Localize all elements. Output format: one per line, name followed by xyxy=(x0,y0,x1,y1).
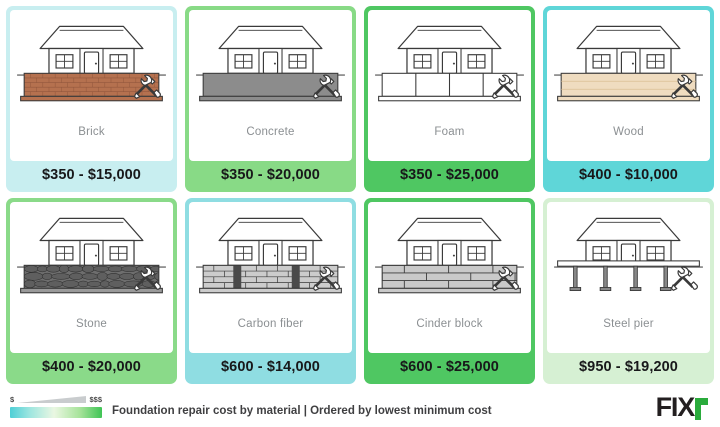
card-body: Carbon fiber xyxy=(189,202,352,353)
house-foundation-illustration xyxy=(10,12,173,124)
card-body: Brick xyxy=(10,10,173,161)
card-body: Steel pier xyxy=(547,202,710,353)
caption: Foundation repair cost by material | Ord… xyxy=(112,405,656,417)
material-card[interactable]: Concrete $350 - $20,000 xyxy=(185,6,356,192)
price-range: $350 - $25,000 xyxy=(368,161,531,188)
material-card[interactable]: Foam $350 - $25,000 xyxy=(364,6,535,192)
fixr-logo[interactable]: FIX xyxy=(656,395,708,421)
house-foundation-illustration xyxy=(547,12,710,124)
card-body: Foam xyxy=(368,10,531,161)
legend-wedge-icon xyxy=(17,396,86,403)
legend-scale: $ $$$ xyxy=(10,394,102,405)
material-card[interactable]: Stone $400 - $20,000 xyxy=(6,198,177,384)
card-body: Cinder block xyxy=(368,202,531,353)
house-foundation-illustration xyxy=(547,204,710,316)
footer: $ $$$ Foundation repair cost by material… xyxy=(0,381,720,427)
house-foundation-illustration xyxy=(10,204,173,316)
legend-gradient-bar xyxy=(10,407,102,418)
material-card[interactable]: Steel pier $950 - $19,200 xyxy=(543,198,714,384)
material-name: Brick xyxy=(78,124,105,143)
material-name: Cinder block xyxy=(416,316,482,335)
price-range: $950 - $19,200 xyxy=(547,353,710,380)
house-foundation-illustration xyxy=(368,204,531,316)
card-body: Wood xyxy=(547,10,710,161)
price-range: $350 - $20,000 xyxy=(189,161,352,188)
price-range: $400 - $20,000 xyxy=(10,353,173,380)
material-name: Steel pier xyxy=(603,316,654,335)
material-name: Stone xyxy=(76,316,107,335)
cost-legend: $ $$$ xyxy=(10,394,102,418)
material-card[interactable]: Brick $350 - $15,000 xyxy=(6,6,177,192)
price-range: $600 - $25,000 xyxy=(368,353,531,380)
legend-low-label: $ xyxy=(10,395,14,404)
card-body: Stone xyxy=(10,202,173,353)
material-name: Wood xyxy=(613,124,644,143)
house-foundation-illustration xyxy=(368,12,531,124)
tools-icon xyxy=(671,267,697,290)
price-range: $350 - $15,000 xyxy=(10,161,173,188)
price-range: $600 - $14,000 xyxy=(189,353,352,380)
logo-wordmark: FIX xyxy=(656,395,694,421)
material-name: Carbon fiber xyxy=(238,316,304,335)
material-card-grid: Brick $350 - $15,000 xyxy=(6,6,714,384)
legend-high-label: $$$ xyxy=(89,395,102,404)
foundation-cost-infographic: Brick $350 - $15,000 xyxy=(0,0,720,427)
material-name: Concrete xyxy=(246,124,294,143)
material-card[interactable]: Cinder block $600 - $25,000 xyxy=(364,198,535,384)
material-card[interactable]: Carbon fiber $600 - $14,000 xyxy=(185,198,356,384)
material-card[interactable]: Wood $400 - $10,000 xyxy=(543,6,714,192)
material-name: Foam xyxy=(434,124,464,143)
price-range: $400 - $10,000 xyxy=(547,161,710,188)
house-foundation-illustration xyxy=(189,12,352,124)
logo-r-mark-icon xyxy=(695,398,708,420)
card-body: Concrete xyxy=(189,10,352,161)
house-foundation-illustration xyxy=(189,204,352,316)
